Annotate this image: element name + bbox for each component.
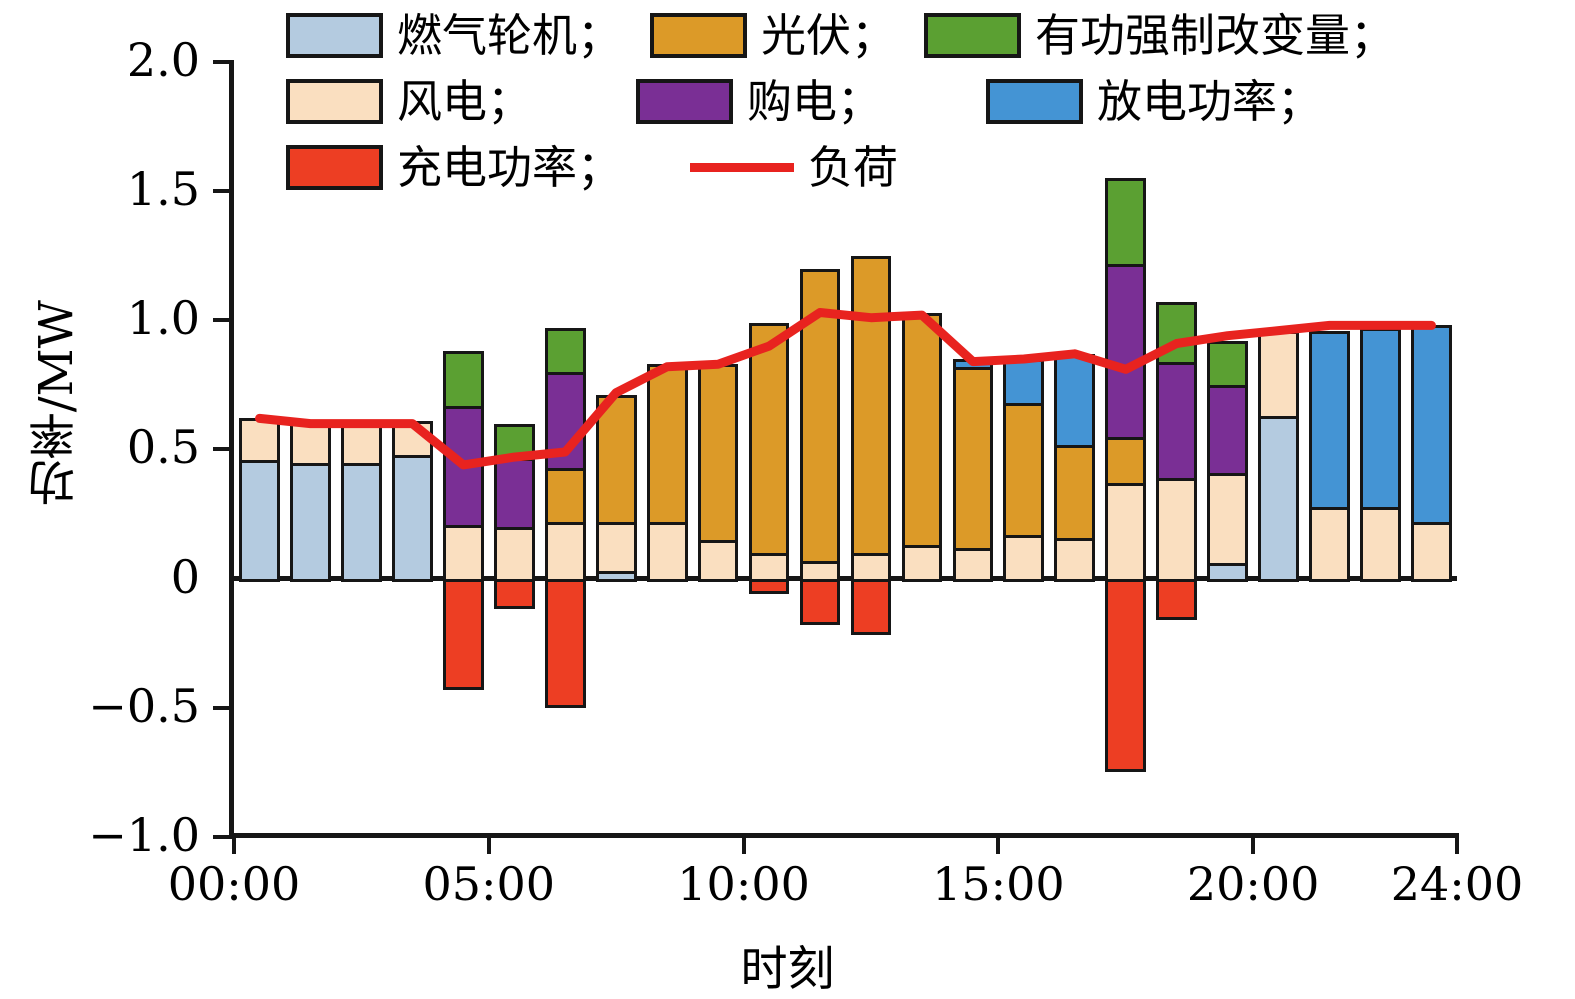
load-line-svg [0,0,1575,996]
chart-root: 燃气轮机；光伏；有功强制改变量； 风电；购电；放电功率； 充电功率；负荷 2.0… [0,0,1575,996]
load-line-path [260,313,1432,465]
